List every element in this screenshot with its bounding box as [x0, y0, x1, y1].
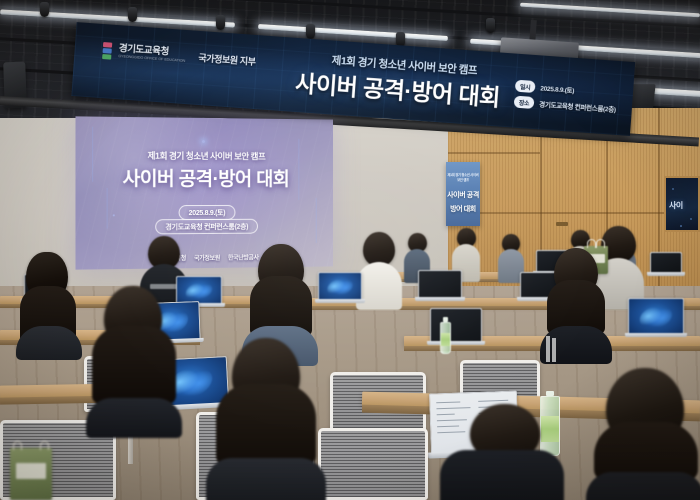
display-dot: [680, 225, 682, 227]
side-banner-line2: 방어 대회: [446, 204, 480, 214]
water-bottle: [440, 322, 451, 354]
attendee-foreground: [440, 404, 564, 500]
spotlight-icon: [216, 15, 225, 30]
wall-display-screen: 사이: [664, 176, 700, 232]
attendee: [16, 252, 82, 350]
screen-deco-dot: [202, 140, 205, 143]
tote-bag: [10, 448, 52, 500]
wood-seam: [448, 152, 540, 154]
attendee: [540, 248, 612, 356]
spotlight-icon: [486, 18, 495, 33]
spotlight-icon: [306, 24, 315, 39]
screen-deco-dot: [113, 214, 115, 216]
attendee: [356, 232, 402, 306]
laptop[interactable]: [650, 252, 682, 273]
side-banner-line1: 사이버 공격: [446, 190, 480, 200]
screen-date-chip: 2025.8.9.(토): [179, 205, 236, 220]
laptop[interactable]: [628, 298, 684, 334]
screen-place-chip: 경기도교육청 컨퍼런스룸(2층): [155, 219, 258, 235]
conference-room-photo: 사이 제1회 경기 청소년 사이버 보안 캠프 사이버 공격·방어 대회 202…: [0, 0, 700, 500]
laptop[interactable]: [418, 270, 462, 298]
banner-meta-value-place: 경기도교육청 컨퍼런스룸(2층): [539, 98, 616, 113]
wall-display-label: 사이: [669, 200, 683, 211]
laptop[interactable]: [430, 308, 482, 342]
attendee-foreground: [86, 286, 182, 426]
banner-meta-row: 장소 경기도교육청 컨퍼런스룸(2층): [513, 96, 616, 115]
screen-footer-logo-2: 국가정보원: [194, 253, 220, 262]
wood-seam: [448, 212, 700, 214]
screen-title: 사이버 공격·방어 대회: [75, 163, 332, 191]
chair[interactable]: [318, 428, 428, 500]
long-hair: [92, 326, 176, 404]
banner-org-primary-sub: GYEONGGIDO OFFICE OF EDUCATION: [118, 55, 185, 63]
attendee-foreground: [206, 338, 326, 500]
screen-deco-line: [316, 198, 317, 243]
banner-org-primary: 경기도교육청 GYEONGGIDO OFFICE OF EDUCATION: [118, 45, 186, 64]
spotlight-icon: [128, 7, 137, 22]
attendee-foreground: [592, 368, 700, 500]
banner-meta-value-date: 2025.8.9.(토): [540, 82, 574, 94]
side-standing-banner: 제1회 경기 청소년 사이버 보안 캠프 사이버 공격 방어 대회: [446, 162, 480, 226]
laptop[interactable]: [176, 276, 222, 304]
laptop[interactable]: [318, 272, 362, 300]
spotlight-icon: [40, 2, 49, 17]
screen-subtitle: 제1회 경기 청소년 사이버 보안 캠프: [75, 149, 332, 163]
long-hair: [216, 384, 316, 466]
banner-meta-label-place: 장소: [513, 96, 534, 109]
door-handle[interactable]: [556, 222, 568, 226]
banner-logo-mark: [102, 42, 112, 60]
display-dot: [690, 218, 692, 220]
display-dot: [672, 188, 674, 190]
banner-meta-label-date: 일시: [515, 80, 536, 93]
jacket-stripe: [546, 336, 550, 362]
side-banner-subtitle: 제1회 경기 청소년 사이버 보안 캠프: [446, 173, 480, 183]
jacket-stripe: [552, 338, 556, 362]
screen-deco-line: [107, 188, 108, 229]
